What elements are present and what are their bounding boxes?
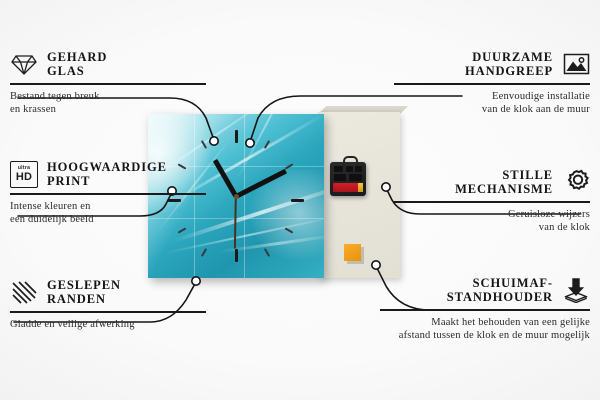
divider <box>394 201 590 203</box>
feature-title: HOOGWAARDIGEPRINT <box>47 160 167 188</box>
hanging-hook-icon <box>343 156 358 166</box>
feature-title: STILLEMECHANISME <box>455 168 553 196</box>
feature-geslepen-randen: GESLEPENRANDEN Gladde en veilige afwerki… <box>10 278 206 331</box>
mechanism-detail <box>346 166 353 172</box>
hour-tick <box>291 199 304 202</box>
mechanism-detail <box>334 166 343 172</box>
hour-tick <box>235 249 238 262</box>
feature-schuimaf-standhouder: SCHUIMAF-STANDHOUDER Maakt het behouden … <box>380 276 590 342</box>
ultra-label: ultra <box>18 166 30 171</box>
beveled-edges-icon <box>10 278 38 306</box>
feature-description: Bestand tegen breuken krassen <box>10 90 206 116</box>
battery <box>333 183 363 192</box>
second-hand <box>234 197 237 249</box>
feature-hoogwaardige-print: ultra HD HOOGWAARDIGEPRINT Intense kleur… <box>10 160 206 226</box>
down-arrow-block-icon <box>562 276 590 304</box>
hour-tick <box>235 130 238 143</box>
feature-header: DUURZAMEHANDGREEP <box>394 50 590 78</box>
divider <box>10 83 206 85</box>
feature-title: DUURZAMEHANDGREEP <box>465 50 553 78</box>
feature-header: GESLEPENRANDEN <box>10 278 206 306</box>
feature-title: GEHARDGLAS <box>47 50 107 78</box>
hd-label: HD <box>16 172 32 183</box>
battery-terminal <box>358 183 363 192</box>
ultra-hd-icon: ultra HD <box>10 160 38 188</box>
feature-description: Eenvoudige installatievan de klok aan de… <box>394 90 590 116</box>
feature-description: Geruisloze wijzersvan de klok <box>394 208 590 234</box>
feature-header: ultra HD HOOGWAARDIGEPRINT <box>10 160 206 188</box>
infographic-canvas: GEHARDGLAS Bestand tegen breuken krassen… <box>0 0 600 400</box>
feature-stille-mechanisme: STILLEMECHANISME Geruisloze wijzersvan d… <box>394 168 590 234</box>
feature-description: Maakt het behouden van een gelijkeafstan… <box>380 316 590 342</box>
divider <box>10 193 206 195</box>
gear-icon <box>562 168 590 196</box>
divider <box>10 311 206 313</box>
hands-center-pin <box>234 194 239 199</box>
mechanism-detail <box>334 174 346 181</box>
clock-mechanism <box>330 162 366 196</box>
feature-title: GESLEPENRANDEN <box>47 278 121 306</box>
foam-spacer-pad <box>344 244 361 261</box>
feature-gehard-glas: GEHARDGLAS Bestand tegen breuken krassen <box>10 50 206 116</box>
feature-header: GEHARDGLAS <box>10 50 206 78</box>
feature-title: SCHUIMAF-STANDHOUDER <box>447 276 553 304</box>
feature-duurzame-handgreep: DUURZAMEHANDGREEP Eenvoudige installatie… <box>394 50 590 116</box>
hour-tick <box>201 248 207 257</box>
diamond-icon <box>10 50 38 78</box>
divider <box>394 83 590 85</box>
glass-seam <box>244 114 245 278</box>
picture-frame-icon <box>562 50 590 78</box>
mechanism-detail <box>349 174 362 181</box>
clock-back-panel <box>318 112 400 278</box>
feature-header: SCHUIMAF-STANDHOUDER <box>380 276 590 304</box>
mechanism-detail <box>355 166 362 172</box>
divider <box>380 309 590 311</box>
feature-description: Intense kleuren eneen duidelijk beeld <box>10 200 206 226</box>
feature-description: Gladde en veilige afwerking <box>10 318 206 331</box>
feature-header: STILLEMECHANISME <box>394 168 590 196</box>
